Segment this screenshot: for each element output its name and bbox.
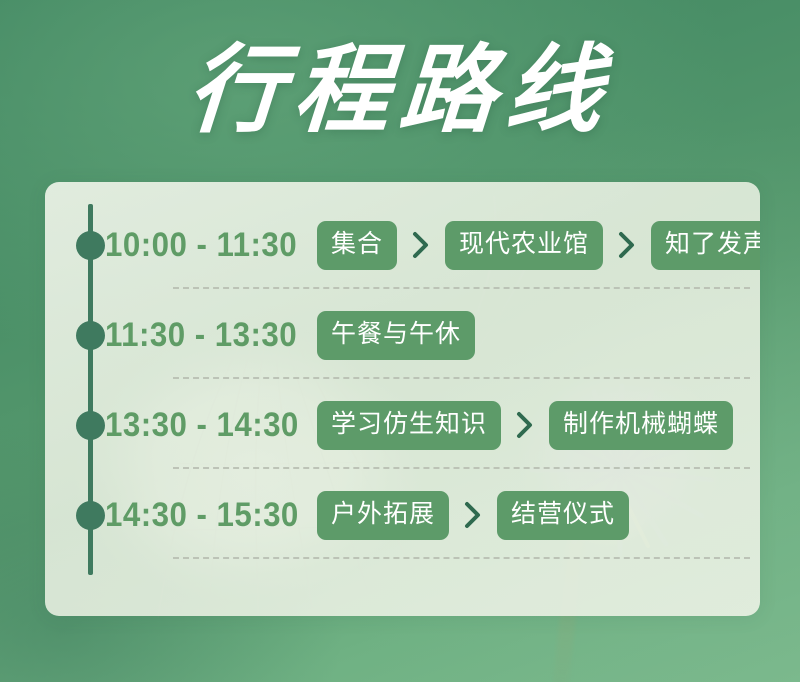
timeline-time-label: 14:30 - 15:30 [105,470,299,560]
activity-chip[interactable]: 结营仪式 [497,491,629,540]
activity-chip[interactable]: 午餐与午休 [317,311,475,360]
timeline-time-label: 10:00 - 11:30 [105,200,297,290]
timeline-time-label: 13:30 - 14:30 [105,380,299,470]
timeline-activity-chips: 集合 现代农业馆 知了发声器 [317,200,760,290]
page-title: 行程路线 [0,38,800,144]
timeline-rows: 10:00 - 11:30 集合 现代农业馆 知了发声器 11:30 - 13:… [45,182,760,616]
timeline-activity-chips: 午餐与午休 [317,290,475,380]
timeline-dot-icon [76,231,105,260]
timeline-dot-icon [76,321,105,350]
timeline-dot-icon [76,501,105,530]
chevron-right-icon [449,501,497,529]
itinerary-poster: 行程路线 10:00 - 11:30 集合 现代农业馆 知了发声器 [0,0,800,682]
chevron-right-icon [397,231,445,259]
chevron-right-icon [501,411,549,439]
row-separator [173,377,750,379]
row-separator [173,467,750,469]
chevron-right-icon [603,231,651,259]
activity-chip[interactable]: 知了发声器 [651,221,760,270]
activity-chip[interactable]: 现代农业馆 [445,221,603,270]
activity-chip[interactable]: 集合 [317,221,397,270]
activity-chip[interactable]: 学习仿生知识 [317,401,501,450]
activity-chip[interactable]: 制作机械蝴蝶 [549,401,733,450]
timeline-activity-chips: 户外拓展 结营仪式 [317,470,629,560]
activity-chip[interactable]: 户外拓展 [317,491,449,540]
timeline-row: 13:30 - 14:30 学习仿生知识 制作机械蝴蝶 [45,380,760,470]
timeline-row: 11:30 - 13:30 午餐与午休 [45,290,760,380]
timeline-time-label: 11:30 - 13:30 [105,290,297,380]
row-separator [173,557,750,559]
timeline-dot-icon [76,411,105,440]
timeline-row: 10:00 - 11:30 集合 现代农业馆 知了发声器 [45,200,760,290]
timeline-row: 14:30 - 15:30 户外拓展 结营仪式 [45,470,760,560]
row-separator [173,287,750,289]
itinerary-card: 10:00 - 11:30 集合 现代农业馆 知了发声器 11:30 - 13:… [45,182,760,616]
timeline-activity-chips: 学习仿生知识 制作机械蝴蝶 [317,380,733,470]
